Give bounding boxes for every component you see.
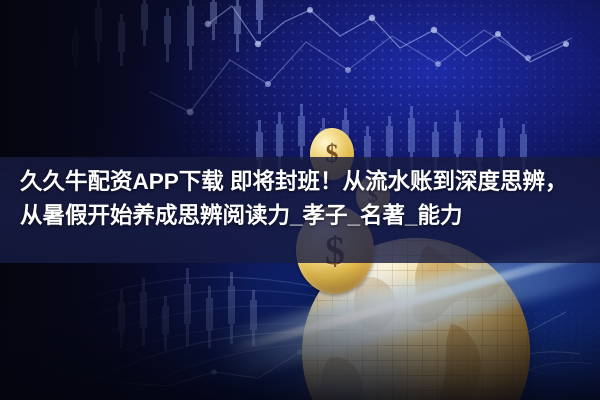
bottom-vignette xyxy=(0,264,600,400)
headline-full: 久久牛配资APP下载 即将封班！从流水账到深度思辨，从暑假开始养成思辨阅读力_孝… xyxy=(20,169,568,228)
banner-image: $ $ $ 久久牛配资APP下载 即将封班！从流水账到深度思辨，从暑假开始养成思… xyxy=(0,0,600,400)
headline-text: 久久牛配资APP下载 即将封班！从流水账到深度思辨，从暑假开始养成思辨阅读力_孝… xyxy=(0,157,600,233)
